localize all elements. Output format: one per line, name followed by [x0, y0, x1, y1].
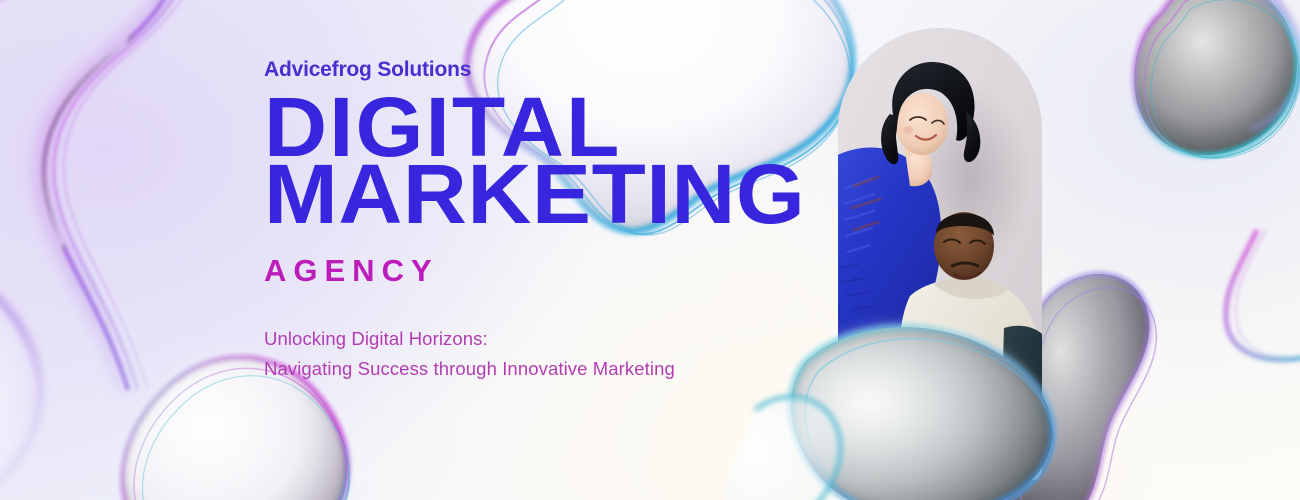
decorative-blob-far-right — [1215, 240, 1300, 440]
decorative-blob-right-edge — [1230, 0, 1300, 130]
marketing-banner: Advicefrog Solutions DIGITAL MARKETING A… — [0, 0, 1300, 500]
decorative-blob-left-ribbon — [0, 0, 260, 390]
decorative-blob-left-lower — [0, 180, 210, 500]
tagline-line-1: Unlocking Digital Horizons: — [264, 324, 824, 354]
decorative-blob-right-mid — [1040, 255, 1260, 500]
hero-photo — [838, 28, 1042, 480]
banner-content: Advicefrog Solutions DIGITAL MARKETING A… — [264, 58, 824, 384]
headline: DIGITAL MARKETING — [264, 92, 824, 229]
headline-line-marketing: MARKETING — [264, 159, 855, 230]
tagline-line-2: Navigating Success through Innovative Ma… — [264, 354, 824, 384]
agency-label: AGENCY — [264, 255, 824, 286]
tagline: Unlocking Digital Horizons: Navigating S… — [264, 324, 824, 384]
brand-name: Advicefrog Solutions — [264, 58, 824, 81]
decorative-bubble-top-right — [1105, 0, 1300, 190]
